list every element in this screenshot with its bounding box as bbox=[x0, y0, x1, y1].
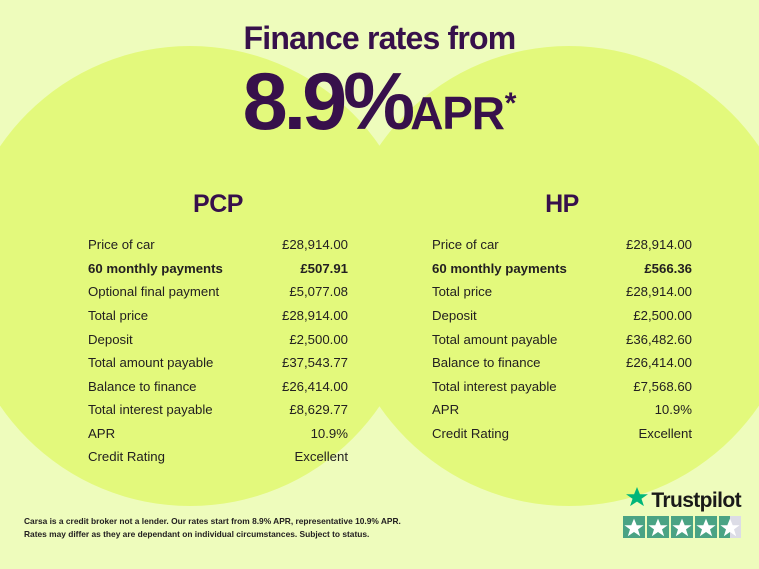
row-value: £5,077.08 bbox=[289, 285, 348, 298]
row-label: Deposit bbox=[88, 333, 133, 346]
table-row: Total price£28,914.00 bbox=[88, 304, 348, 328]
trustpilot-name: Trustpilot bbox=[651, 490, 741, 511]
disclaimer-line-2: Rates may differ as they are dependant o… bbox=[24, 528, 434, 541]
row-value: 10.9% bbox=[655, 403, 692, 416]
row-label: Credit Rating bbox=[88, 450, 165, 463]
page-title: Finance rates from bbox=[0, 0, 759, 54]
plan-title-hp: HP bbox=[432, 192, 692, 217]
plan-rows-hp: Price of car£28,914.0060 monthly payment… bbox=[432, 233, 692, 445]
row-value: Excellent bbox=[638, 427, 692, 440]
plan-title-pcp: PCP bbox=[88, 192, 348, 217]
headline-rate-row: 8.9% APR * bbox=[0, 62, 759, 143]
row-value: £2,500.00 bbox=[289, 333, 348, 346]
row-value: £2,500.00 bbox=[633, 309, 692, 322]
table-row: Balance to finance£26,414.00 bbox=[88, 374, 348, 398]
table-row: Deposit£2,500.00 bbox=[432, 304, 692, 328]
row-label: Total price bbox=[432, 285, 492, 298]
row-value: 10.9% bbox=[311, 427, 348, 440]
promo-graphic: Finance rates from 8.9% APR * PCP Price … bbox=[0, 0, 759, 569]
table-row: 60 monthly payments£507.91 bbox=[88, 257, 348, 281]
row-value: £36,482.60 bbox=[626, 333, 692, 346]
row-label: Price of car bbox=[88, 238, 155, 251]
rating-star-icon bbox=[719, 516, 741, 538]
plan-card-pcp: PCP Price of car£28,914.0060 monthly pay… bbox=[88, 192, 348, 469]
row-value: £28,914.00 bbox=[282, 309, 348, 322]
row-value: £7,568.60 bbox=[633, 380, 692, 393]
row-value: £507.91 bbox=[300, 262, 348, 275]
row-value: £26,414.00 bbox=[626, 356, 692, 369]
table-row: Total interest payable£7,568.60 bbox=[432, 374, 692, 398]
rating-star-icon bbox=[623, 516, 645, 538]
table-row: Total price£28,914.00 bbox=[432, 280, 692, 304]
row-value: Excellent bbox=[294, 450, 348, 463]
row-label: APR bbox=[88, 427, 115, 440]
row-label: Balance to finance bbox=[88, 380, 197, 393]
table-row: APR10.9% bbox=[432, 398, 692, 422]
table-row: Credit RatingExcellent bbox=[88, 445, 348, 469]
row-label: Deposit bbox=[432, 309, 477, 322]
headline-apr-label: APR bbox=[410, 90, 504, 136]
rating-star-icon bbox=[695, 516, 717, 538]
table-row: Price of car£28,914.00 bbox=[432, 233, 692, 257]
table-row: Balance to finance£26,414.00 bbox=[432, 351, 692, 375]
row-value: £28,914.00 bbox=[626, 285, 692, 298]
headline-rate-value: 8.9% bbox=[243, 62, 412, 143]
table-row: Total amount payable£37,543.77 bbox=[88, 351, 348, 375]
row-label: Balance to finance bbox=[432, 356, 541, 369]
row-label: 60 monthly payments bbox=[88, 262, 223, 275]
row-value: £8,629.77 bbox=[289, 403, 348, 416]
row-label: APR bbox=[432, 403, 459, 416]
row-label: Total price bbox=[88, 309, 148, 322]
table-row: Total amount payable£36,482.60 bbox=[432, 327, 692, 351]
rating-star-icon bbox=[647, 516, 669, 538]
table-row: Deposit£2,500.00 bbox=[88, 327, 348, 351]
row-label: Price of car bbox=[432, 238, 499, 251]
trustpilot-star-icon bbox=[626, 487, 648, 513]
row-value: £28,914.00 bbox=[282, 238, 348, 251]
table-row: Price of car£28,914.00 bbox=[88, 233, 348, 257]
trustpilot-widget[interactable]: Trustpilot bbox=[613, 488, 741, 538]
row-label: Total interest payable bbox=[88, 403, 213, 416]
table-row: 60 monthly payments£566.36 bbox=[432, 257, 692, 281]
row-label: Optional final payment bbox=[88, 285, 219, 298]
row-label: Total amount payable bbox=[432, 333, 557, 346]
headline-asterisk: * bbox=[505, 89, 517, 119]
trustpilot-wordmark: Trustpilot bbox=[613, 488, 741, 512]
row-value: £37,543.77 bbox=[282, 356, 348, 369]
row-value: £26,414.00 bbox=[282, 380, 348, 393]
row-value: £28,914.00 bbox=[626, 238, 692, 251]
row-label: Credit Rating bbox=[432, 427, 509, 440]
trustpilot-rating-stars bbox=[613, 516, 741, 538]
disclaimer-text: Carsa is a credit broker not a lender. O… bbox=[24, 515, 434, 541]
rating-star-icon bbox=[671, 516, 693, 538]
row-value: £566.36 bbox=[644, 262, 692, 275]
disclaimer-line-1: Carsa is a credit broker not a lender. O… bbox=[24, 515, 434, 528]
table-row: Optional final payment£5,077.08 bbox=[88, 280, 348, 304]
row-label: Total interest payable bbox=[432, 380, 557, 393]
plan-card-hp: HP Price of car£28,914.0060 monthly paym… bbox=[432, 192, 692, 445]
row-label: 60 monthly payments bbox=[432, 262, 567, 275]
row-label: Total amount payable bbox=[88, 356, 213, 369]
header: Finance rates from 8.9% APR * bbox=[0, 0, 759, 143]
table-row: APR10.9% bbox=[88, 422, 348, 446]
table-row: Credit RatingExcellent bbox=[432, 422, 692, 446]
table-row: Total interest payable£8,629.77 bbox=[88, 398, 348, 422]
plan-rows-pcp: Price of car£28,914.0060 monthly payment… bbox=[88, 233, 348, 469]
